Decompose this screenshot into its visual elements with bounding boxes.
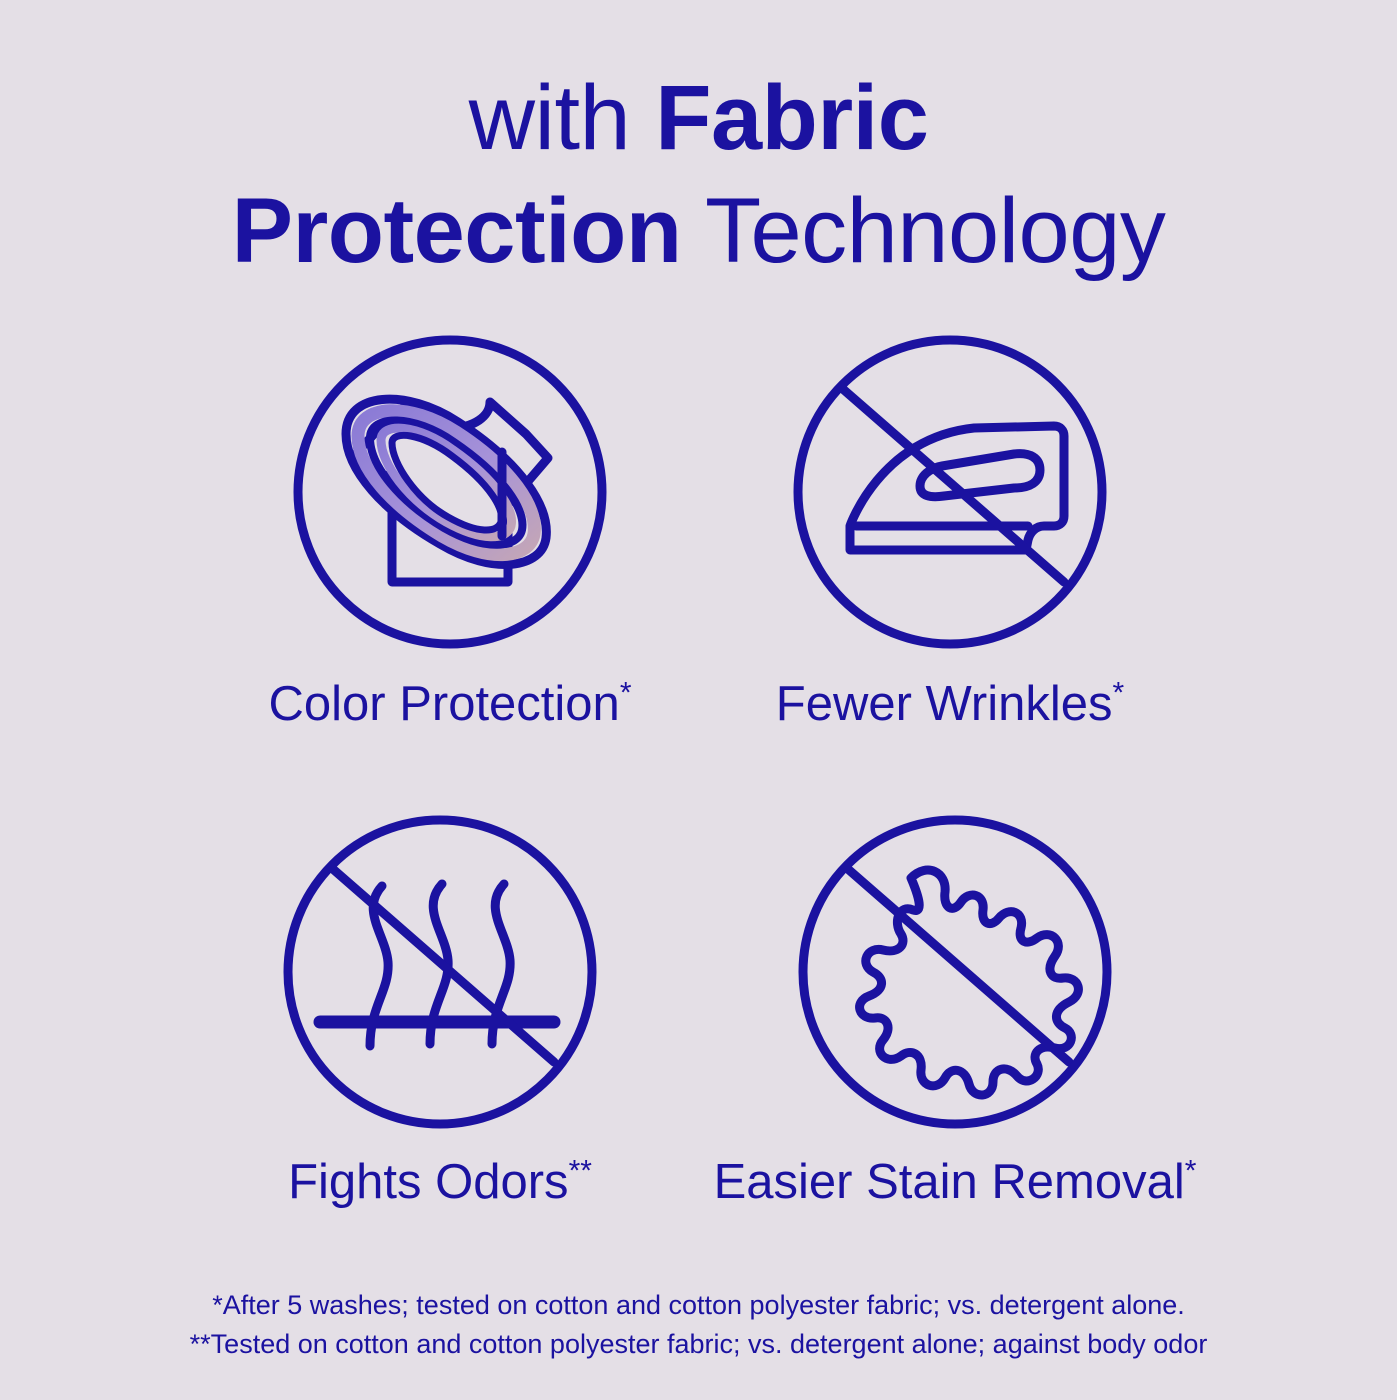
title-word-fabric: Fabric xyxy=(655,67,928,169)
page-title: with Fabric Protection Technology xyxy=(0,62,1397,288)
feature-label-text: Fights Odors xyxy=(288,1155,568,1209)
footnote-line-2: **Tested on cotton and cotton polyester … xyxy=(0,1325,1397,1364)
no-stain-splatter-icon xyxy=(793,810,1117,1134)
feature-row-2: Fights Odors** xyxy=(0,810,1397,1290)
feature-label: Fights Odors** xyxy=(190,1154,690,1210)
footnote-line-1: *After 5 washes; tested on cotton and co… xyxy=(0,1286,1397,1325)
feature-row-1: Color Protection* xyxy=(0,330,1397,810)
title-word-with: with xyxy=(469,67,656,169)
title-line-2: Protection Technology xyxy=(232,180,1166,282)
footnote-marker: * xyxy=(1113,677,1125,710)
title-line-1: with Fabric xyxy=(469,67,929,169)
no-odor-waves-icon xyxy=(278,810,602,1134)
footnotes: *After 5 washes; tested on cotton and co… xyxy=(0,1286,1397,1364)
no-iron-wrinkles-icon xyxy=(788,330,1112,654)
feature-label: Easier Stain Removal* xyxy=(705,1154,1205,1210)
feature-label-text: Easier Stain Removal xyxy=(714,1155,1185,1209)
feature-grid: Color Protection* xyxy=(0,330,1397,1290)
title-word-technology: Technology xyxy=(682,180,1166,282)
title-word-protection: Protection xyxy=(232,180,682,282)
feature-fewer-wrinkles: Fewer Wrinkles* xyxy=(700,330,1200,732)
feature-fights-odors: Fights Odors** xyxy=(190,810,690,1210)
color-protection-shirt-icon xyxy=(288,330,612,654)
footnote-marker: * xyxy=(620,677,632,710)
feature-label: Color Protection* xyxy=(200,676,700,732)
footnote-marker: ** xyxy=(569,1155,592,1188)
footnote-marker: * xyxy=(1185,1155,1197,1188)
promo-graphic: with Fabric Protection Technology xyxy=(0,0,1397,1400)
feature-label-text: Color Protection xyxy=(268,677,619,731)
feature-easier-stain-removal: Easier Stain Removal* xyxy=(705,810,1205,1210)
feature-label: Fewer Wrinkles* xyxy=(700,676,1200,732)
feature-label-text: Fewer Wrinkles xyxy=(776,677,1113,731)
feature-color-protection: Color Protection* xyxy=(200,330,700,732)
